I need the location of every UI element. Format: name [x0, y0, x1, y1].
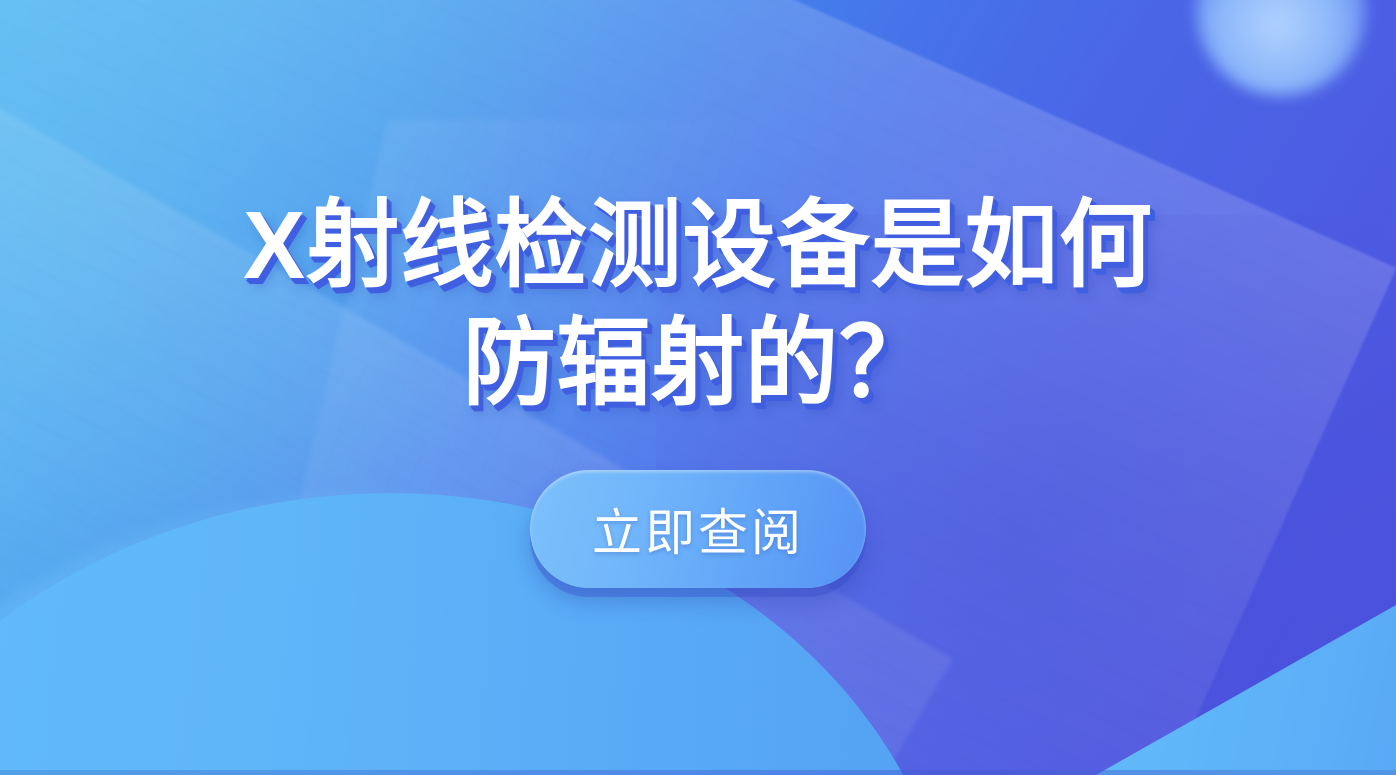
banner-headline: X射线检测设备是如何 防辐射的？	[229, 198, 1167, 412]
banner-content: X射线检测设备是如何 防辐射的？ 立即查阅	[0, 0, 1396, 775]
view-now-button-label: 立即查阅	[592, 493, 804, 565]
headline-line-2: 防辐射的？	[243, 316, 1153, 412]
view-now-button[interactable]: 立即查阅	[530, 470, 866, 588]
promo-banner: X射线检测设备是如何 防辐射的？ 立即查阅	[0, 0, 1396, 775]
headline-line-1: X射线检测设备是如何	[243, 198, 1153, 294]
